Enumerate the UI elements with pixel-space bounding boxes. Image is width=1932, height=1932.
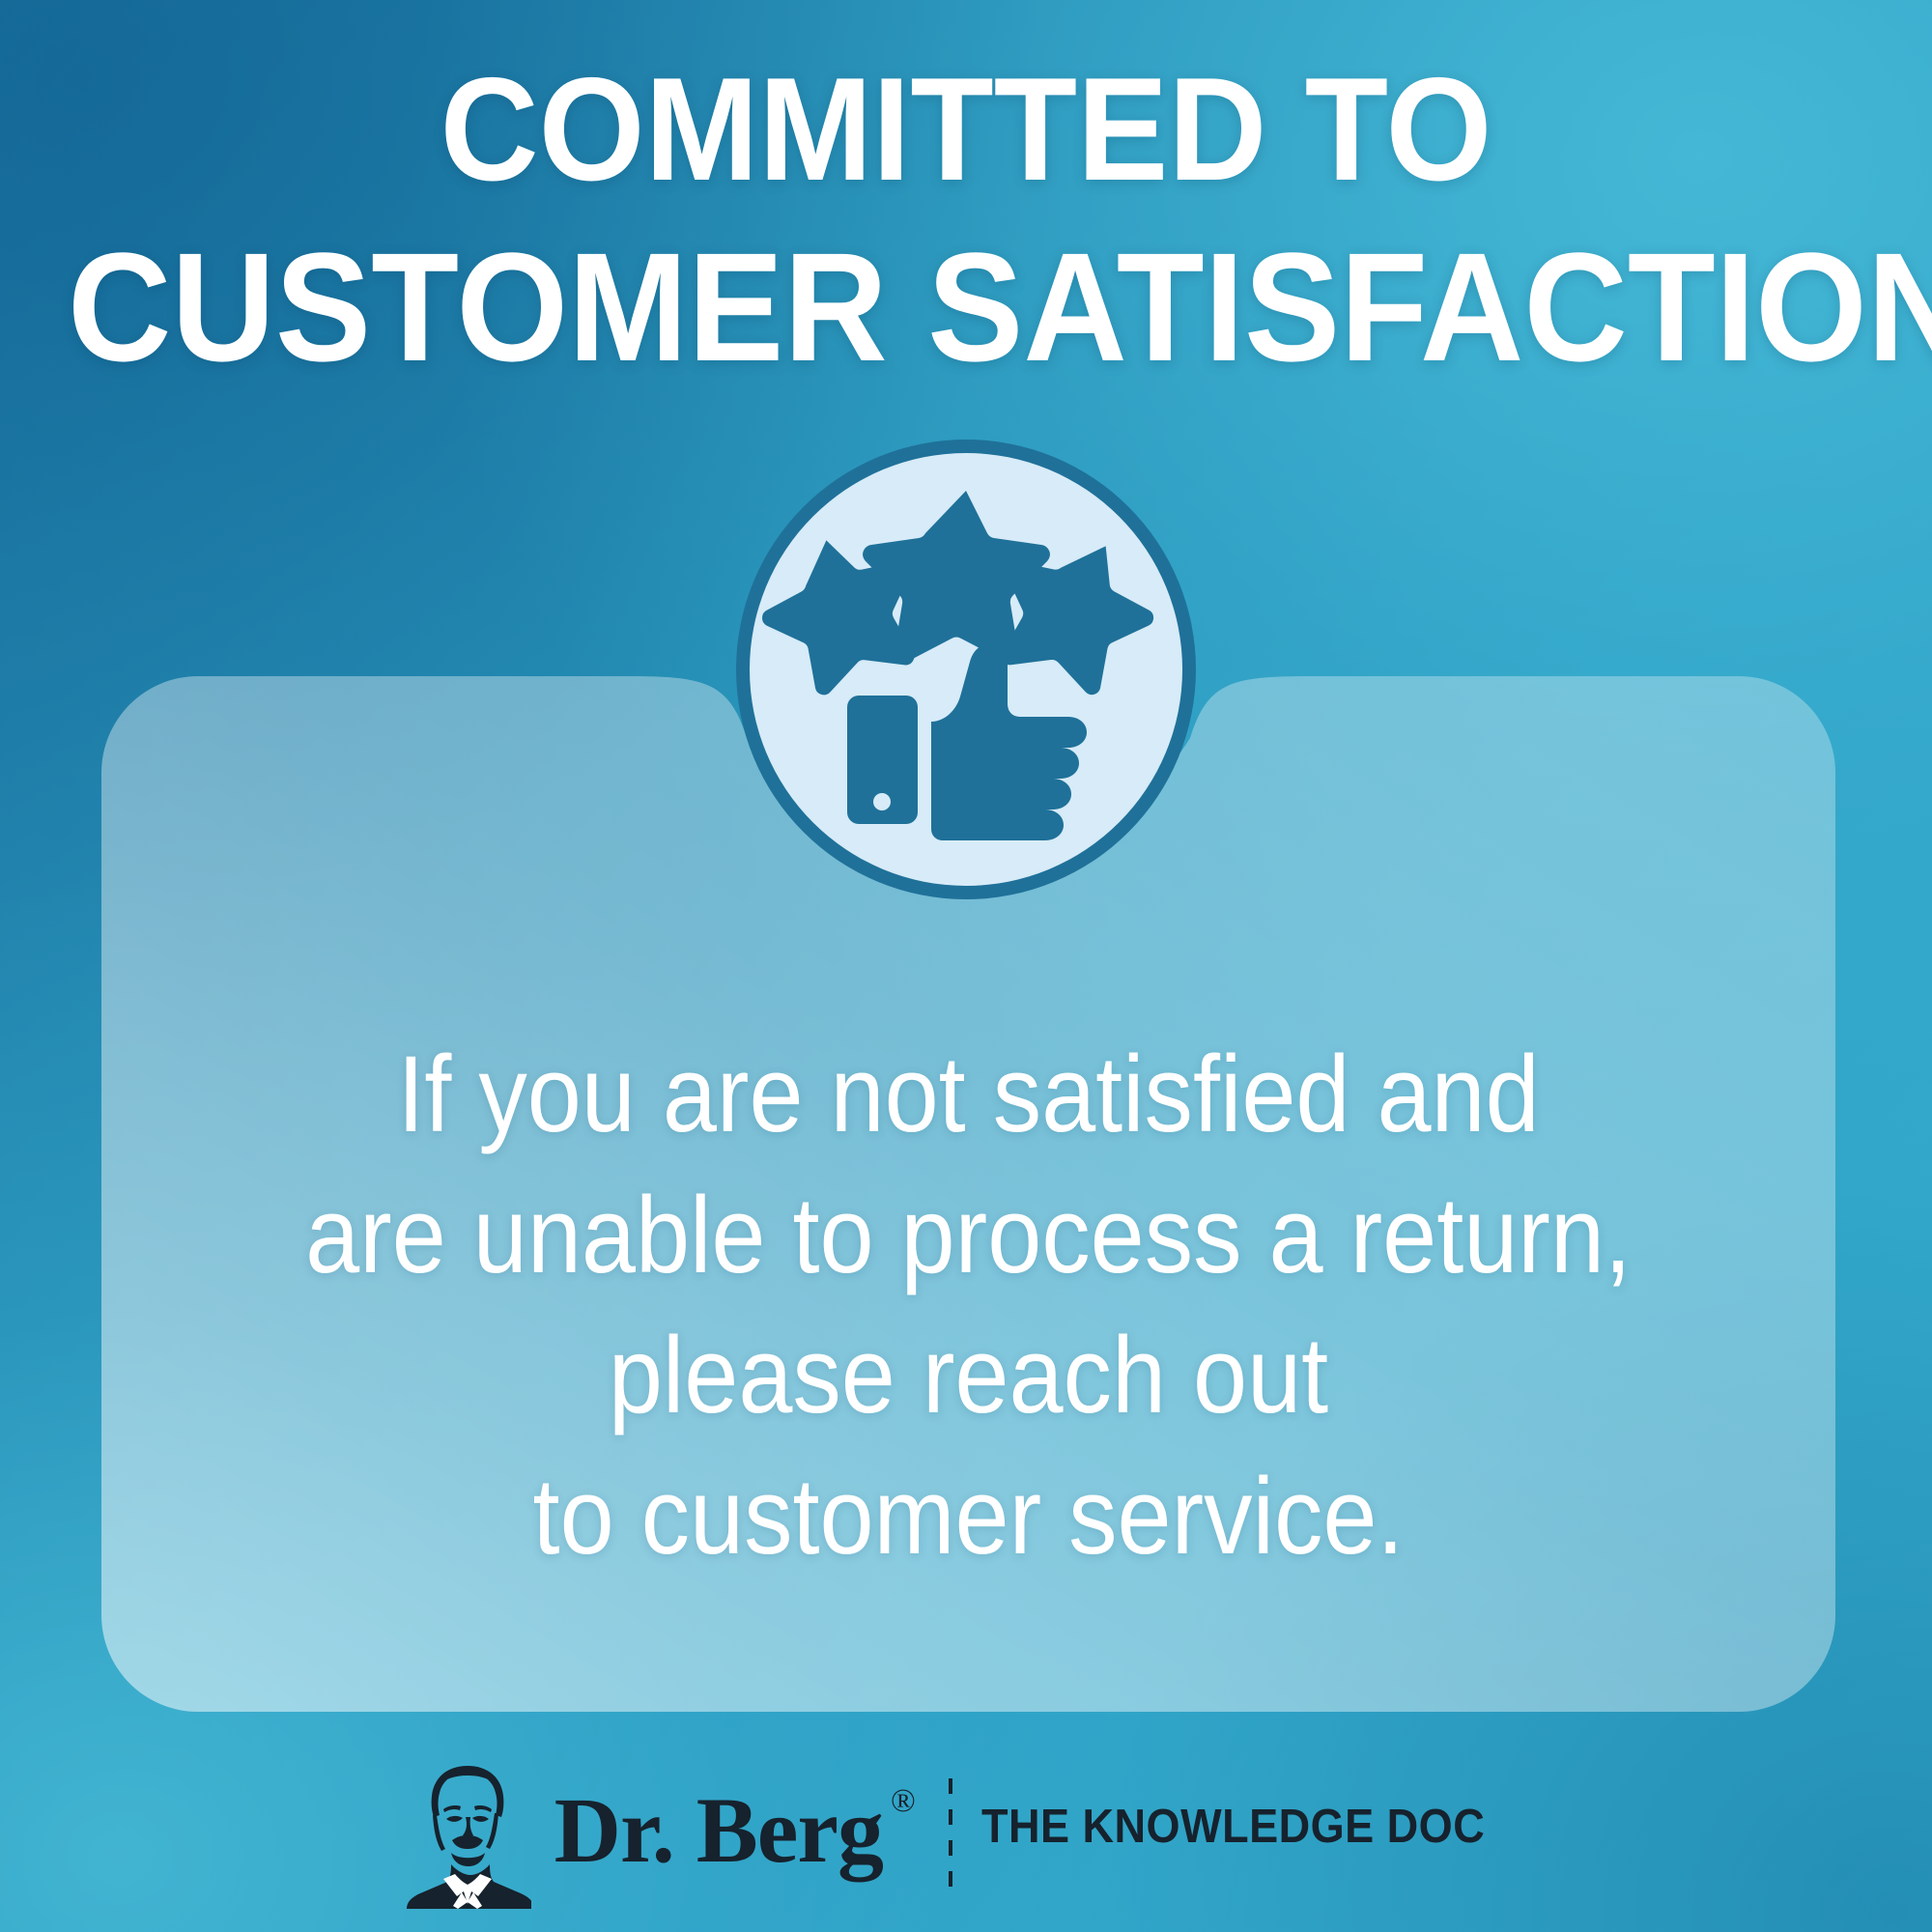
headline-line-2: CUSTOMER SATISFACTION: [68, 230, 1864, 384]
brand-logo: Dr. Berg ® THE KNOWLEDGE DOC: [0, 1754, 1932, 1918]
cuff-dot-icon: [873, 793, 891, 810]
poster-canvas: COMMITTED TO CUSTOMER SATISFACTION If yo…: [0, 0, 1932, 1932]
body-line-2: are unable to process a return,: [188, 1165, 1749, 1306]
satisfaction-badge: [736, 440, 1196, 899]
body-text: If you are not satisfied and are unable …: [188, 1024, 1749, 1586]
headline-line-1: COMMITTED TO: [68, 56, 1864, 203]
body-line-4: to customer service.: [188, 1446, 1749, 1587]
dr-berg-portrait-icon: [404, 1764, 531, 1909]
page-title: COMMITTED TO CUSTOMER SATISFACTION: [68, 56, 1864, 384]
brand-name: Dr. Berg: [554, 1784, 883, 1877]
body-line-1: If you are not satisfied and: [188, 1024, 1749, 1165]
registered-mark-icon: ®: [891, 1785, 916, 1818]
dashed-vertical-divider: [949, 1778, 952, 1899]
body-line-3: please reach out: [188, 1305, 1749, 1446]
brand-tagline: THE KNOWLEDGE DOC: [981, 1804, 1485, 1851]
